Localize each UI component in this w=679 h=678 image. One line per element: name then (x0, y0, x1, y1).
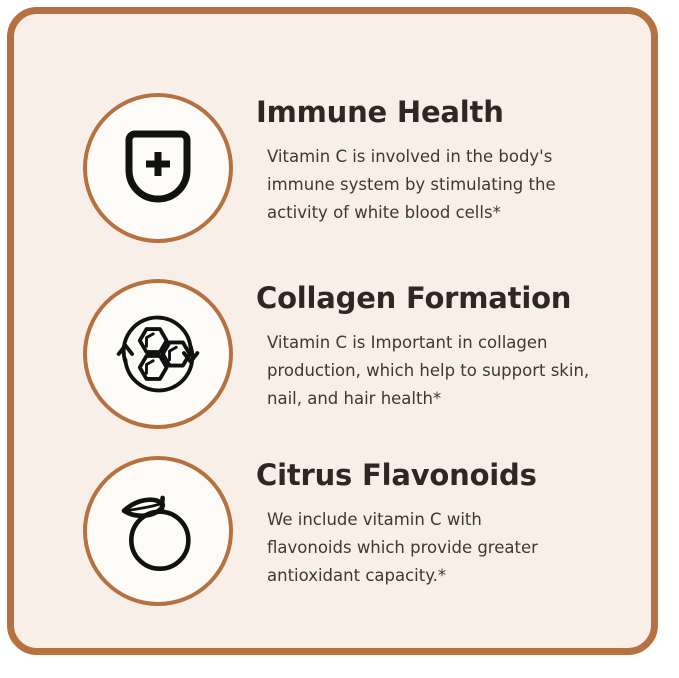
feature-body-line: Vitamin C is Important in collagen (267, 329, 597, 357)
feature-item-collagen-formation: Collagen Formation Vitamin C is Importan… (14, 279, 651, 429)
icon-badge-citrus-flavonoids (83, 456, 233, 606)
hexagon-cycle-icon (110, 306, 206, 402)
shield-plus-icon (121, 128, 195, 208)
feature-title: Collagen Formation (256, 281, 651, 315)
feature-body-line: nail, and hair health* (267, 385, 597, 413)
feature-body-line: We include vitamin C with (267, 506, 597, 534)
feature-body: We include vitamin C with flavonoids whi… (256, 506, 597, 590)
feature-body-line: production, which help to support skin, (267, 357, 597, 385)
benefits-poster: Immune Health Vitamin C is involved in t… (7, 7, 658, 655)
feature-text-collagen-formation: Collagen Formation Vitamin C is Importan… (256, 279, 651, 413)
feature-text-immune-health: Immune Health Vitamin C is involved in t… (256, 93, 651, 227)
feature-text-citrus-flavonoids: Citrus Flavonoids We include vitamin C w… (256, 456, 651, 590)
feature-title: Immune Health (256, 95, 651, 129)
feature-body: Vitamin C is involved in the body's immu… (256, 143, 597, 227)
feature-body-line: activity of white blood cells* (267, 199, 597, 227)
feature-item-immune-health: Immune Health Vitamin C is involved in t… (14, 93, 651, 243)
feature-body-line: antioxidant capacity.* (267, 562, 597, 590)
icon-badge-collagen-formation (83, 279, 233, 429)
feature-title: Citrus Flavonoids (256, 458, 651, 492)
feature-item-citrus-flavonoids: Citrus Flavonoids We include vitamin C w… (14, 456, 651, 606)
feature-list: Immune Health Vitamin C is involved in t… (14, 14, 651, 648)
icon-badge-immune-health (83, 93, 233, 243)
orange-fruit-icon (112, 485, 204, 577)
feature-body: Vitamin C is Important in collagen produ… (256, 329, 597, 413)
feature-body-line: flavonoids which provide greater (267, 534, 597, 562)
feature-body-line: immune system by stimulating the (267, 171, 597, 199)
feature-body-line: Vitamin C is involved in the body's (267, 143, 597, 171)
